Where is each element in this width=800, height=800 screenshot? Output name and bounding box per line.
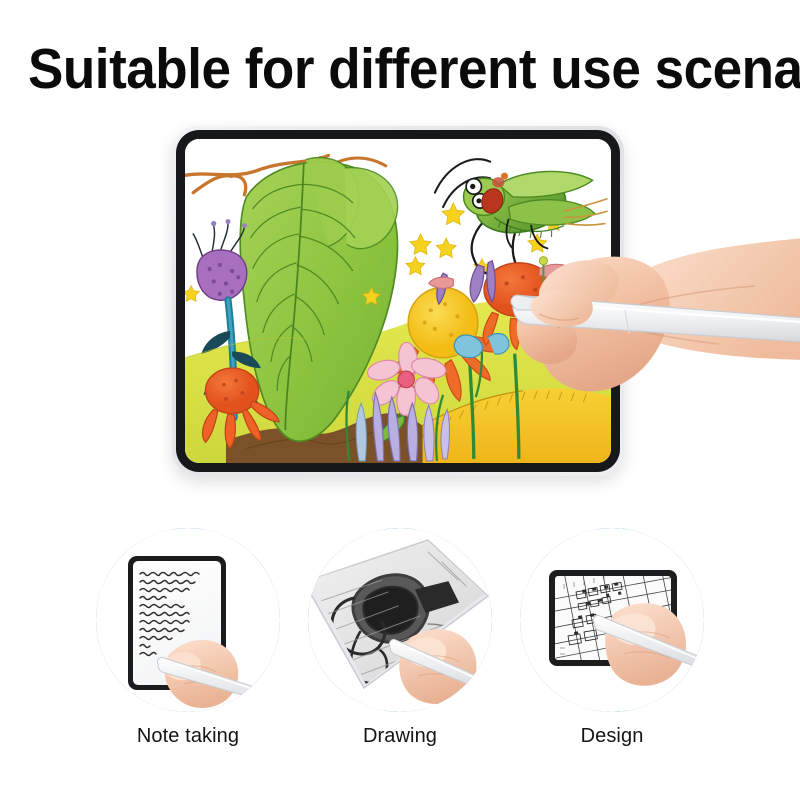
scenario-label-drawing: Drawing: [280, 725, 520, 748]
scenario-thumbnails: Note taking: [0, 520, 800, 800]
thumb-image-design: [520, 528, 704, 712]
tablet-frame: [172, 126, 624, 476]
product-marketing-banner: Suitable for different use scenarios: [0, 0, 800, 800]
scenario-design[interactable]: Design: [512, 520, 712, 720]
garden-illustration: [185, 139, 611, 463]
scenario-label-design: Design: [492, 725, 732, 748]
design-illustration: [520, 528, 704, 712]
thumb-image-note-taking: [96, 528, 280, 712]
forearm: [612, 238, 800, 360]
hero-tablet-device: [172, 126, 624, 476]
scenario-drawing[interactable]: Drawing: [300, 520, 500, 720]
page-title: Suitable for different use scenarios: [28, 38, 772, 100]
note-taking-illustration: [96, 528, 280, 712]
tablet-screen: [185, 139, 611, 463]
thumb-image-drawing: [308, 528, 492, 712]
tablet-bezel: [176, 130, 620, 472]
scenario-note-taking[interactable]: Note taking: [88, 520, 288, 720]
drawing-illustration: [308, 528, 492, 712]
scenario-label-note-taking: Note taking: [68, 725, 308, 748]
